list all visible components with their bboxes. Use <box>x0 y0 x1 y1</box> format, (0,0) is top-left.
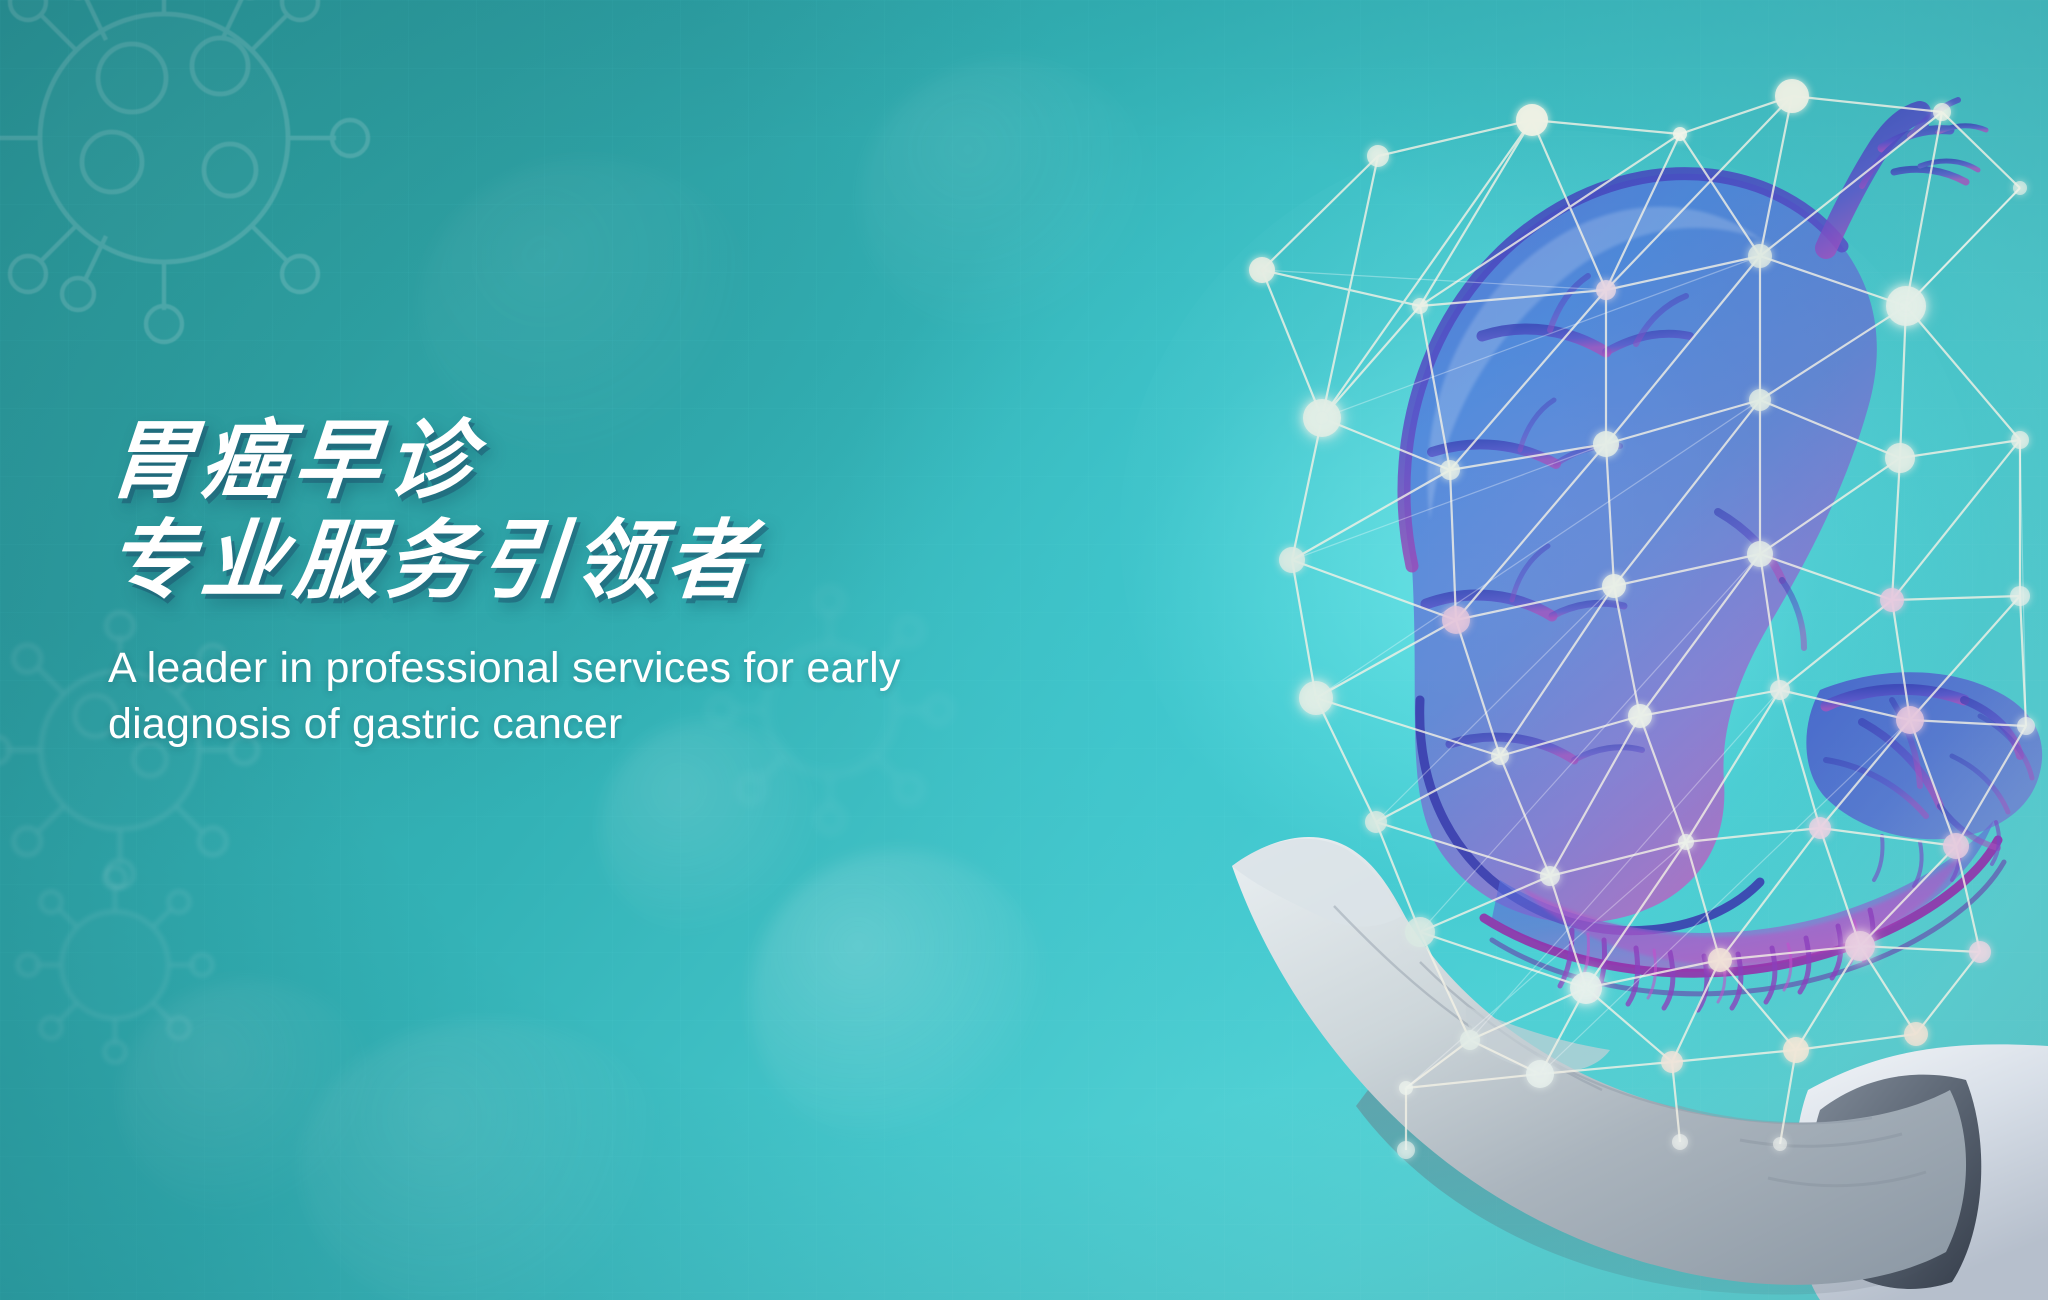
hero-text-block: 胃癌早诊 专业服务引领者 A leader in professional se… <box>108 418 1108 753</box>
virus-icon <box>0 0 380 350</box>
bokeh-blob <box>750 850 1050 1150</box>
hero-subtitle: A leader in professional services for ea… <box>108 641 938 753</box>
bokeh-blob <box>120 980 380 1220</box>
hero-banner: 胃癌早诊 专业服务引领者 A leader in professional se… <box>0 0 2048 1300</box>
virus-icon <box>10 860 220 1070</box>
bokeh-blob <box>860 60 1160 340</box>
bokeh-blob <box>300 1020 680 1300</box>
artwork-svg <box>1120 0 2048 1300</box>
headline-line-2: 专业服务引领者 <box>104 518 1112 606</box>
stomach-in-hand-artwork <box>1120 0 2048 1300</box>
headline-line-1: 胃癌早诊 <box>104 418 1112 506</box>
